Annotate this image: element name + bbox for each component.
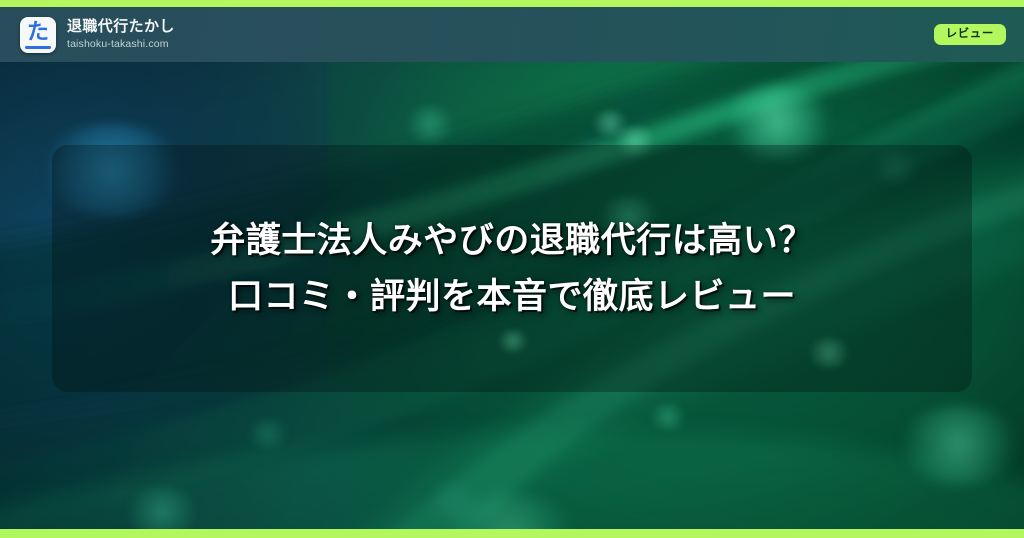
title-line-2: 口コミ・評判を本音で徹底レビュー (210, 269, 814, 325)
eyecatch-image: た 退職代行たかし taishoku-takashi.com レビュー 弁護士法… (0, 0, 1024, 538)
site-domain: taishoku-takashi.com (67, 38, 175, 51)
logo-glyph: た (27, 22, 49, 44)
accent-bar-bottom (0, 529, 1024, 538)
accent-bar-top (0, 0, 1024, 7)
page-title: 弁護士法人みやびの退職代行は高い？ 口コミ・評判を本音で徹底レビュー (186, 213, 838, 325)
category-badge: レビュー (934, 24, 1006, 46)
site-name: 退職代行たかし (67, 18, 175, 36)
brand-text: 退職代行たかし taishoku-takashi.com (67, 18, 175, 50)
title-line-1: 弁護士法人みやびの退職代行は高い？ (210, 213, 814, 269)
site-header: た 退職代行たかし taishoku-takashi.com レビュー (0, 7, 1024, 62)
logo-underline (25, 46, 51, 49)
brand: た 退職代行たかし taishoku-takashi.com (20, 17, 175, 53)
title-panel: 弁護士法人みやびの退職代行は高い？ 口コミ・評判を本音で徹底レビュー (52, 145, 972, 392)
site-logo-icon: た (20, 17, 56, 53)
